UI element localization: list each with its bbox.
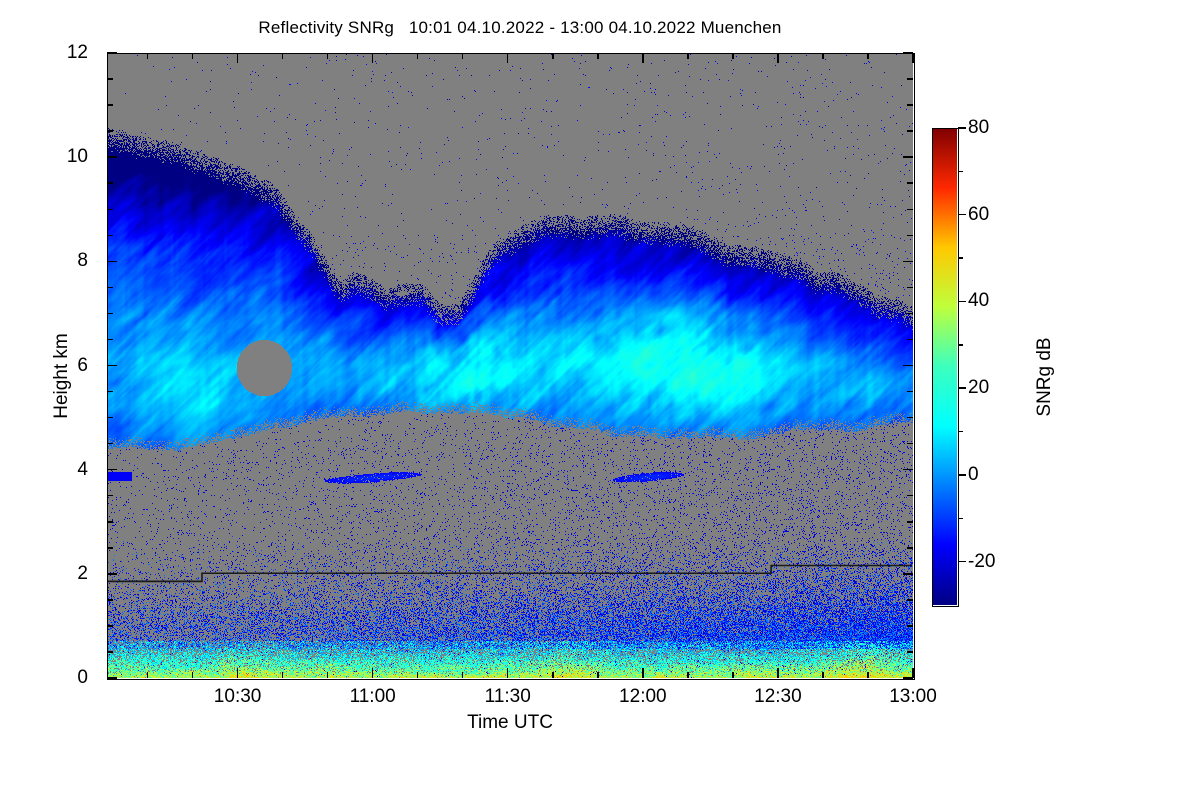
y-tick-mark — [907, 521, 913, 523]
x-tick-label: 12:00 — [619, 686, 667, 708]
y-tick-mark — [107, 339, 113, 341]
y-tick-mark — [107, 391, 113, 393]
y-tick-label: 0 — [77, 667, 88, 689]
y-tick-mark — [107, 443, 113, 445]
y-tick-mark — [907, 287, 913, 289]
y-tick-mark — [907, 209, 913, 211]
y-tick-label: 6 — [77, 355, 88, 377]
x-tick-mark — [732, 672, 734, 678]
colorbar-tick-mark — [958, 431, 963, 433]
y-tick-mark — [107, 104, 113, 106]
y-tick-mark — [107, 573, 117, 575]
x-tick-mark — [372, 668, 374, 678]
y-tick-mark — [903, 156, 913, 158]
y-tick-mark — [907, 417, 913, 419]
colorbar-tick-mark — [958, 518, 963, 520]
x-tick-mark — [732, 53, 734, 59]
colorbar-tick-mark — [958, 127, 966, 129]
x-tick-mark — [237, 53, 239, 63]
x-tick-mark — [417, 672, 419, 678]
y-tick-mark — [107, 182, 113, 184]
y-tick-mark — [907, 339, 913, 341]
x-tick-mark — [642, 53, 644, 63]
y-tick-mark — [107, 365, 117, 367]
x-tick-mark — [822, 672, 824, 678]
colorbar-tick-mark — [958, 257, 963, 259]
x-tick-mark — [507, 53, 509, 63]
y-tick-mark — [903, 365, 913, 367]
x-tick-mark — [507, 668, 509, 678]
y-tick-label: 4 — [77, 459, 88, 481]
y-tick-mark — [907, 651, 913, 653]
y-tick-mark — [907, 78, 913, 80]
y-tick-mark — [107, 313, 113, 315]
x-tick-mark — [462, 53, 464, 59]
colorbar-gradient — [932, 128, 957, 605]
y-tick-mark — [107, 261, 117, 263]
y-tick-mark — [107, 78, 113, 80]
y-tick-mark — [907, 625, 913, 627]
x-tick-mark — [237, 668, 239, 678]
y-tick-mark — [107, 547, 113, 549]
x-axis-label: Time UTC — [107, 712, 913, 734]
y-tick-label: 12 — [67, 42, 88, 64]
x-tick-mark — [147, 672, 149, 678]
x-tick-mark — [777, 53, 779, 63]
x-tick-mark — [597, 672, 599, 678]
x-tick-label: 11:30 — [485, 686, 531, 708]
x-tick-mark — [687, 53, 689, 59]
x-tick-mark — [192, 672, 194, 678]
y-tick-mark — [107, 156, 117, 158]
y-tick-mark — [907, 547, 913, 549]
x-tick-mark — [282, 672, 284, 678]
y-tick-mark — [907, 130, 913, 132]
y-tick-mark — [907, 104, 913, 106]
y-tick-mark — [903, 573, 913, 575]
y-tick-mark — [107, 677, 117, 679]
x-tick-mark — [327, 53, 329, 59]
y-tick-mark — [107, 625, 113, 627]
x-tick-mark — [912, 668, 914, 678]
x-tick-mark — [192, 53, 194, 59]
x-tick-mark — [327, 672, 329, 678]
x-tick-mark — [867, 53, 869, 59]
x-tick-mark — [912, 53, 914, 63]
colorbar-tick-mark — [958, 171, 963, 173]
y-tick-mark — [107, 52, 117, 54]
colorbar-tick-mark — [958, 214, 966, 216]
x-tick-mark — [867, 672, 869, 678]
y-tick-mark — [903, 469, 913, 471]
y-tick-mark — [107, 469, 117, 471]
colorbar-tick-mark — [958, 344, 963, 346]
y-tick-mark — [107, 130, 113, 132]
y-tick-mark — [907, 182, 913, 184]
colorbar-tick-mark — [958, 387, 966, 389]
x-tick-mark — [372, 53, 374, 63]
colorbar-tick-mark — [958, 561, 966, 563]
figure-root: Reflectivity SNRg 10:01 04.10.2022 - 13:… — [0, 0, 1200, 800]
x-tick-mark — [462, 672, 464, 678]
x-tick-mark — [597, 53, 599, 59]
radar-heatmap-canvas — [107, 53, 913, 678]
y-tick-mark — [907, 443, 913, 445]
y-tick-label: 2 — [77, 563, 88, 585]
x-tick-label: 11:00 — [350, 686, 396, 708]
x-tick-mark — [147, 53, 149, 59]
y-tick-mark — [903, 261, 913, 263]
colorbar-tick-label: 60 — [968, 204, 989, 226]
y-tick-label: 8 — [77, 250, 88, 272]
colorbar-tick-label: -20 — [968, 551, 995, 573]
y-tick-mark — [107, 495, 113, 497]
x-tick-mark — [777, 668, 779, 678]
y-tick-mark — [907, 313, 913, 315]
y-tick-label: 10 — [67, 146, 88, 168]
x-tick-mark — [687, 672, 689, 678]
x-tick-mark — [642, 668, 644, 678]
x-tick-mark — [282, 53, 284, 59]
x-tick-mark — [417, 53, 419, 59]
x-tick-label: 13:00 — [889, 686, 937, 708]
y-tick-mark — [107, 651, 113, 653]
colorbar-tick-label: 20 — [968, 377, 989, 399]
x-tick-mark — [552, 672, 554, 678]
y-tick-mark — [107, 209, 113, 211]
y-tick-mark — [107, 417, 113, 419]
y-tick-mark — [907, 599, 913, 601]
x-tick-label: 12:30 — [754, 686, 802, 708]
colorbar-tick-mark — [958, 301, 966, 303]
y-tick-mark — [907, 391, 913, 393]
x-tick-mark — [552, 53, 554, 59]
colorbar-tick-label: 80 — [968, 117, 989, 139]
y-tick-mark — [107, 235, 113, 237]
y-tick-mark — [907, 235, 913, 237]
y-tick-mark — [107, 521, 113, 523]
colorbar-tick-label: 0 — [968, 464, 979, 486]
colorbar-tick-label: 40 — [968, 290, 989, 312]
y-tick-mark — [907, 495, 913, 497]
x-tick-label: 10:30 — [214, 686, 262, 708]
page-title: Reflectivity SNRg 10:01 04.10.2022 - 13:… — [0, 18, 1040, 38]
y-tick-mark — [107, 599, 113, 601]
y-tick-mark — [107, 287, 113, 289]
x-tick-mark — [822, 53, 824, 59]
colorbar-label: SNRg dB — [1034, 287, 1056, 467]
y-axis-label: Height km — [51, 296, 73, 456]
colorbar-tick-mark — [958, 474, 966, 476]
